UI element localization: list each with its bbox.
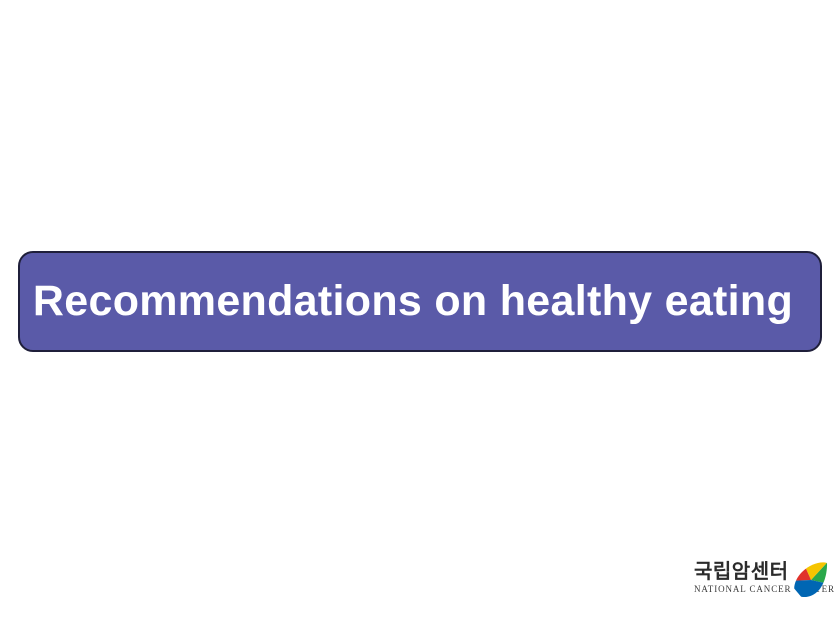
- logo-wordmarks: 국립암센터 NATIONAL CANCER CENTER: [694, 560, 794, 595]
- slide-canvas: Recommendations on healthy eating 국립암센터 …: [0, 0, 840, 629]
- national-cancer-center-logo: 국립암센터 NATIONAL CANCER CENTER: [694, 560, 828, 604]
- leaf-mark-icon: [794, 561, 828, 599]
- logo-english-name: NATIONAL CANCER CENTER: [694, 583, 794, 595]
- title-banner: Recommendations on healthy eating: [18, 251, 822, 352]
- slide-title: Recommendations on healthy eating: [33, 280, 807, 323]
- logo-korean-name: 국립암센터: [694, 560, 794, 582]
